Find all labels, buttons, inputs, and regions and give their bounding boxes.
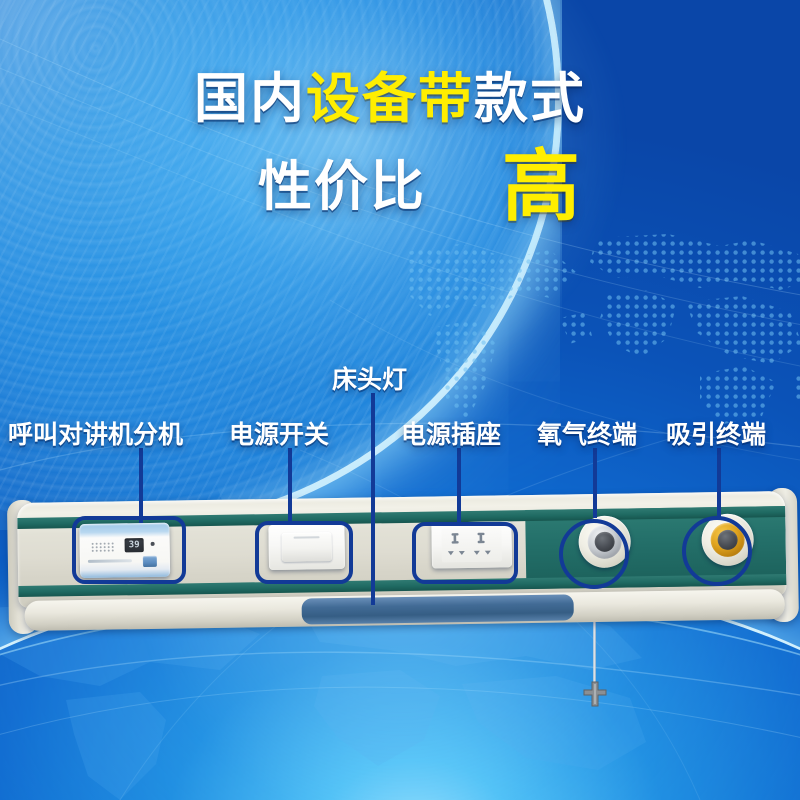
callout-label-power-socket: 电源插座: [401, 415, 501, 451]
callout-labels: 呼叫对讲机分机 电源开关 床头灯 电源插座 氧气终端 吸引终端: [0, 0, 800, 800]
callout-label-nurse-call-intercom: 呼叫对讲机分机: [8, 415, 183, 451]
callout-label-bed-head-lamp: 床头灯: [332, 360, 407, 396]
callout-label-oxygen-terminal: 氧气终端: [537, 415, 637, 451]
callout-label-suction-terminal: 吸引终端: [666, 415, 766, 451]
callout-label-power-switch: 电源开关: [229, 415, 329, 451]
product-banner: 国内设备带款式 性价比 高 呼叫对讲机分机 电源开关 床头灯 电源插座 氧气终端…: [0, 0, 800, 800]
